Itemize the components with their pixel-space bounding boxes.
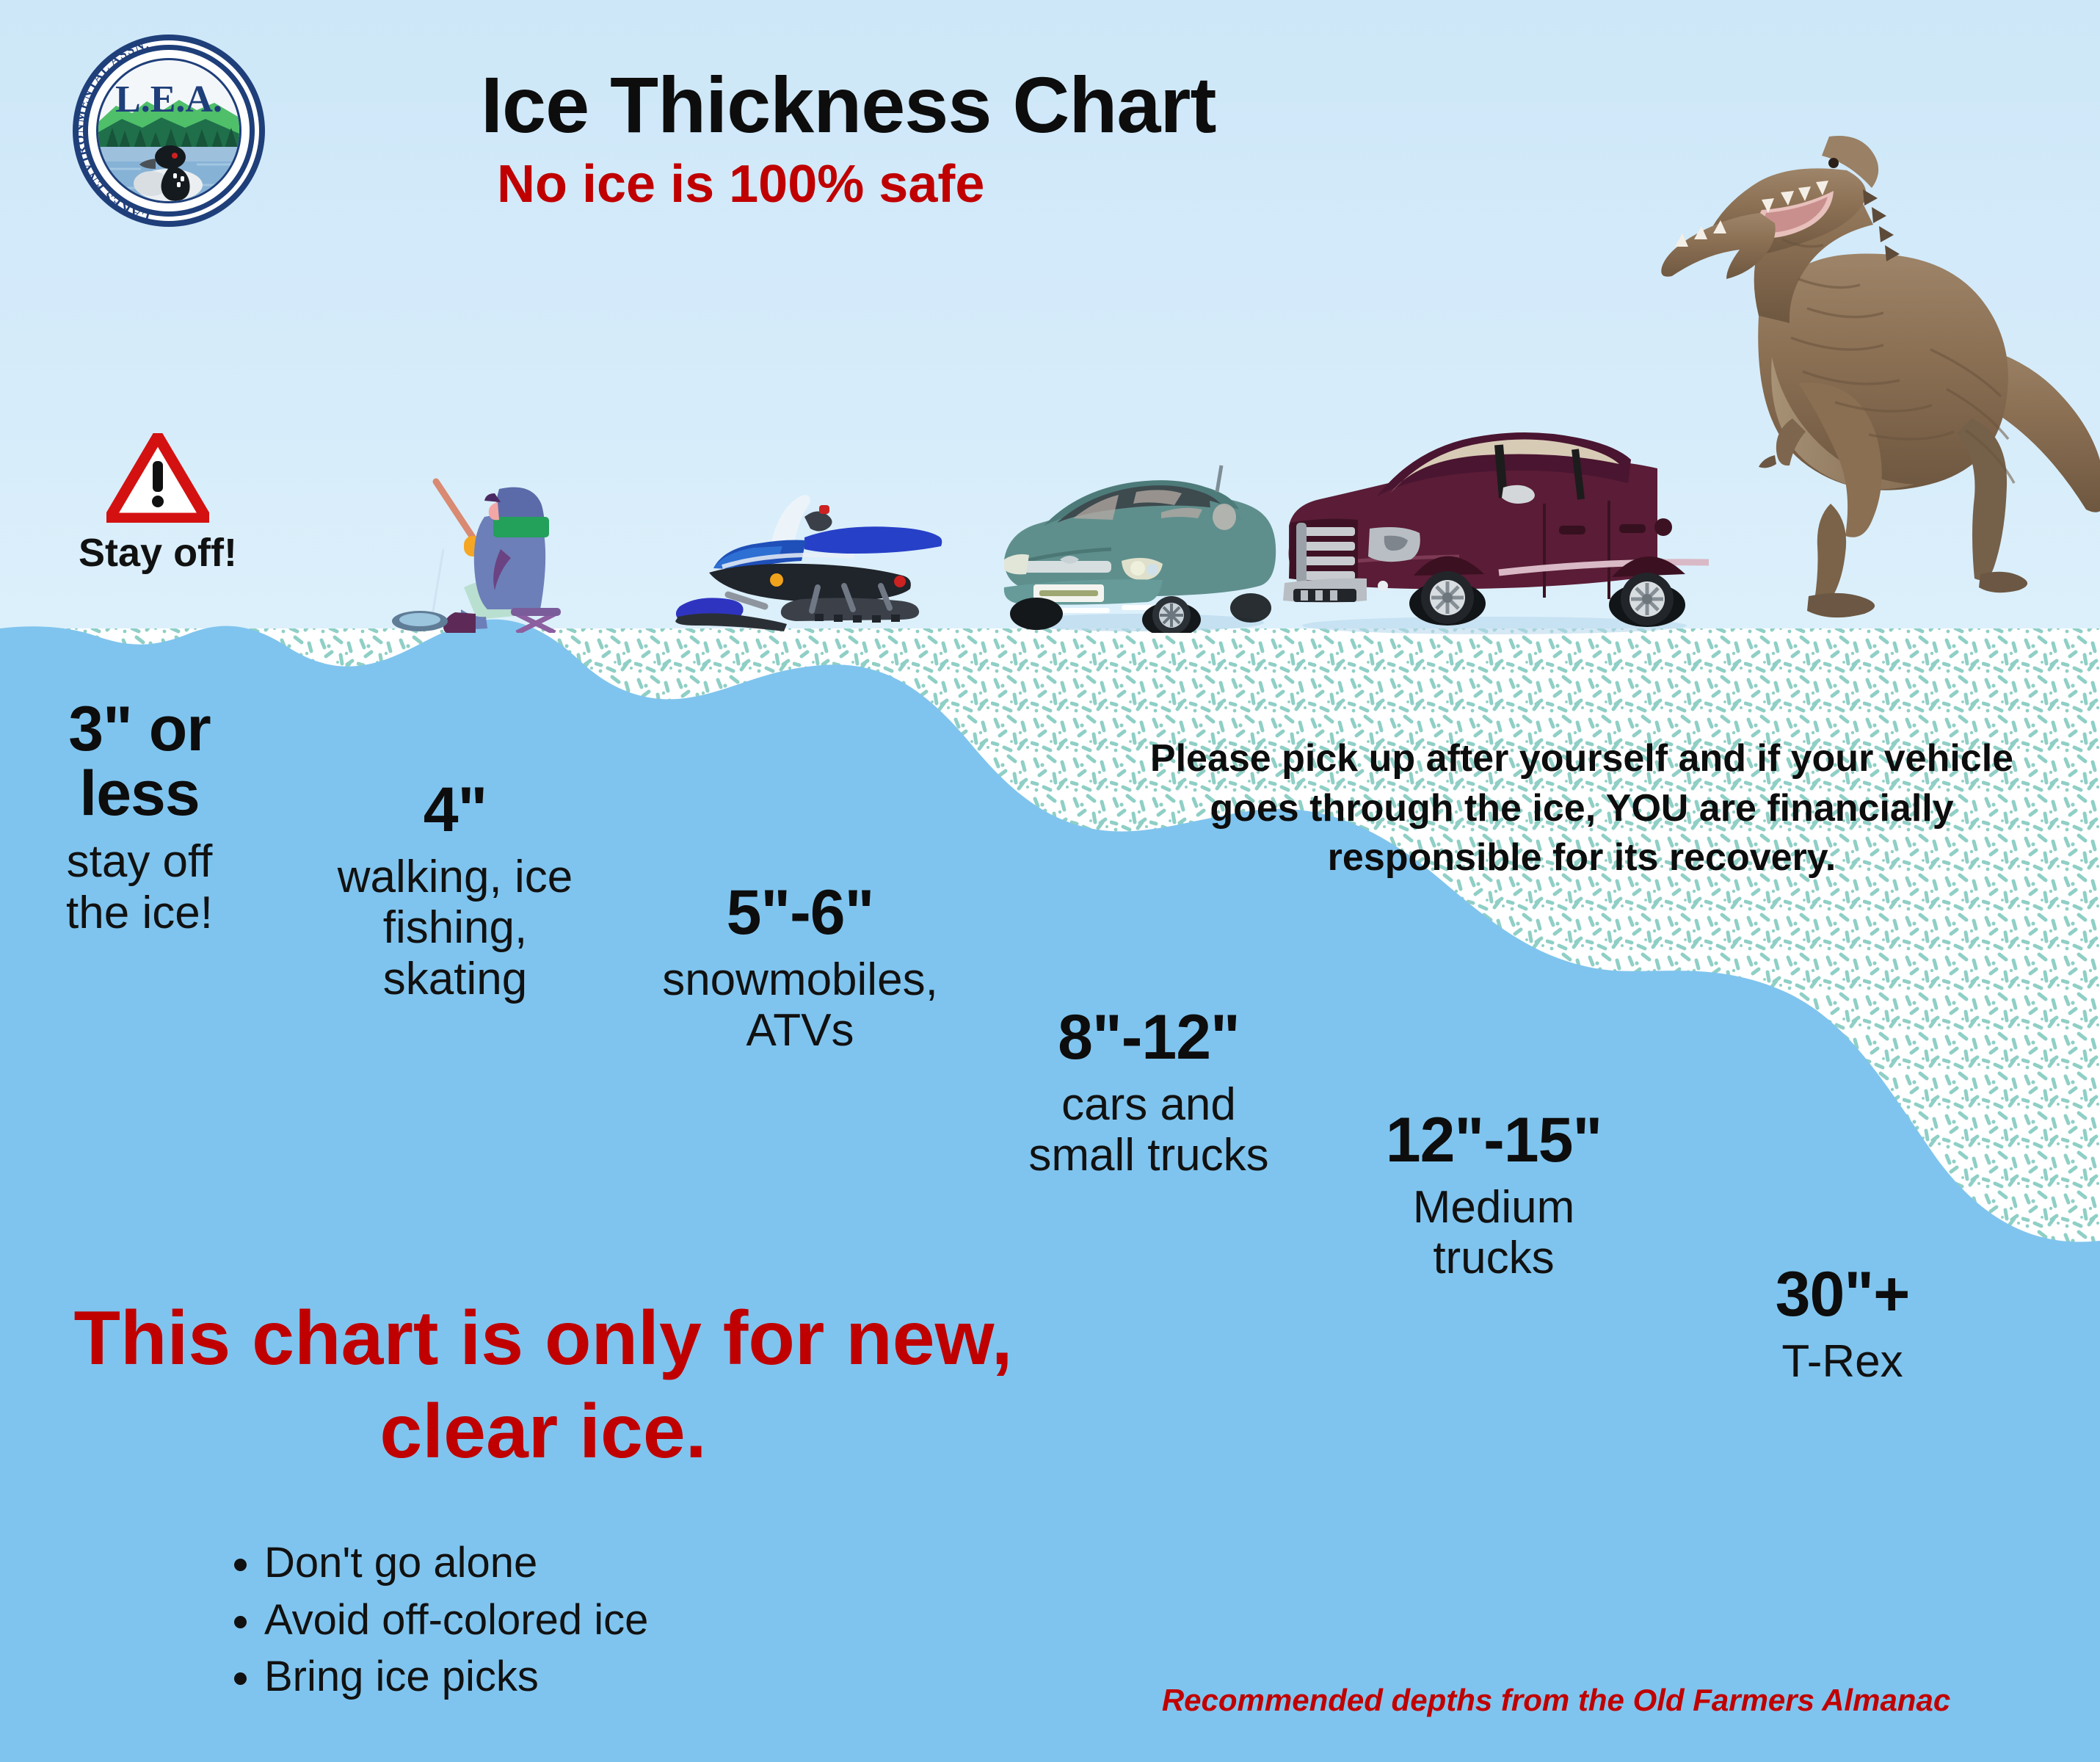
tick-5-6: 5"-6" snowmobiles, ATVs	[617, 881, 984, 1056]
safety-tips-list: Don't go alone Avoid off-colored ice Bri…	[220, 1534, 648, 1705]
tick-8-12-desc: cars and small trucks	[976, 1079, 1321, 1181]
tick-30-plus: 30"+ T-Rex	[1703, 1263, 1982, 1387]
snowmobile-illustration	[661, 470, 954, 631]
list-item: Don't go alone	[264, 1534, 648, 1592]
t-rex-illustration	[1615, 95, 2100, 639]
clear-ice-disclaimer: This chart is only for new, clear ice.	[40, 1292, 1046, 1479]
tick-12-15-value: 12"-15"	[1321, 1109, 1666, 1173]
tick-3-or-less: 3" or less stay off the ice!	[29, 697, 250, 938]
ice-fisherman-illustration	[388, 463, 608, 633]
tick-30-plus-value: 30"+	[1703, 1263, 1982, 1327]
tick-5-6-value: 5"-6"	[617, 881, 984, 946]
tick-8-12-value: 8"-12"	[976, 1006, 1321, 1070]
tick-3-or-less-desc: stay off the ice!	[29, 836, 250, 938]
list-item: Avoid off-colored ice	[264, 1592, 648, 1649]
responsibility-notice: Please pick up after yourself and if you…	[1123, 734, 2041, 883]
list-item: Bring ice picks	[264, 1648, 648, 1705]
source-attribution: Recommended depths from the Old Farmers …	[1042, 1683, 2070, 1718]
tick-3-or-less-value: 3" or less	[29, 697, 250, 826]
tick-8-12: 8"-12" cars and small trucks	[976, 1006, 1321, 1181]
ice-thickness-poster: L.E.A. LAKES ENVIRONMENTAL ASSN. Ice Thi…	[0, 0, 2100, 1762]
tick-4: 4" walking, ice fishing, skating	[294, 778, 617, 1004]
vehicle-illustration-row	[0, 0, 2100, 646]
car-illustration	[992, 449, 1279, 633]
tick-12-15: 12"-15" Medium trucks	[1321, 1109, 1666, 1284]
tick-12-15-desc: Medium trucks	[1321, 1182, 1666, 1284]
tick-4-desc: walking, ice fishing, skating	[294, 852, 617, 1004]
tick-4-value: 4"	[294, 778, 617, 843]
tick-30-plus-desc: T-Rex	[1703, 1336, 1982, 1387]
tick-5-6-desc: snowmobiles, ATVs	[617, 954, 984, 1056]
